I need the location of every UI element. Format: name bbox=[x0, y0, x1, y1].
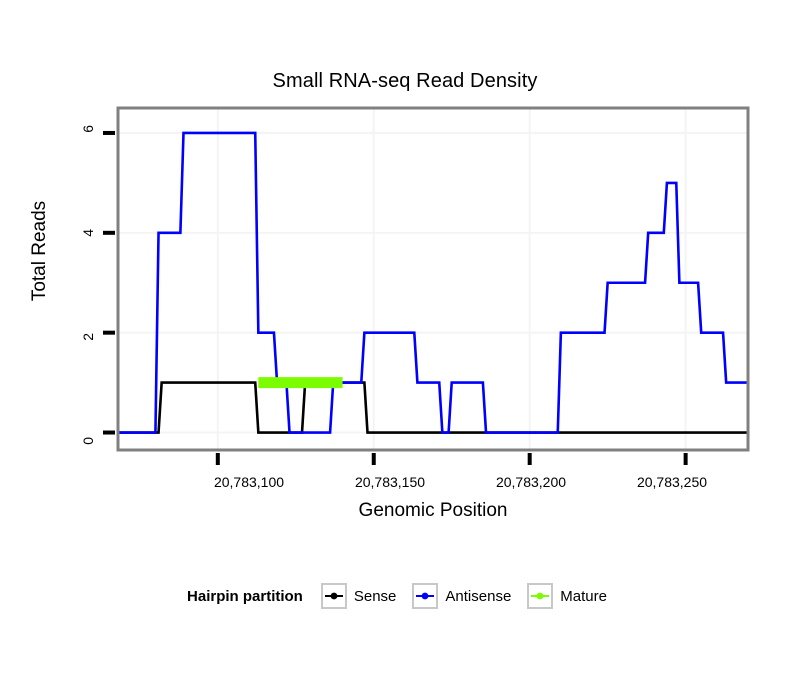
chart-figure: Small RNA-seq Read Density Total Reads G… bbox=[0, 0, 810, 690]
line-point-icon bbox=[415, 589, 435, 603]
legend-key-antisense bbox=[412, 583, 438, 609]
line-point-icon bbox=[324, 589, 344, 603]
line-point-icon bbox=[530, 589, 550, 603]
legend-entry-antisense[interactable]: Antisense bbox=[412, 583, 511, 609]
legend-label-antisense: Antisense bbox=[445, 588, 511, 605]
legend-key-sense bbox=[321, 583, 347, 609]
legend-key-mature bbox=[527, 583, 553, 609]
legend-entry-mature[interactable]: Mature bbox=[527, 583, 607, 609]
legend-label-sense: Sense bbox=[354, 588, 397, 605]
legend-title: Hairpin partition bbox=[187, 588, 303, 605]
legend-entry-sense[interactable]: Sense bbox=[321, 583, 397, 609]
chart-legend: Hairpin partition Sense Antisense bbox=[0, 583, 810, 609]
legend-label-mature: Mature bbox=[560, 588, 607, 605]
plot-background bbox=[118, 108, 748, 450]
